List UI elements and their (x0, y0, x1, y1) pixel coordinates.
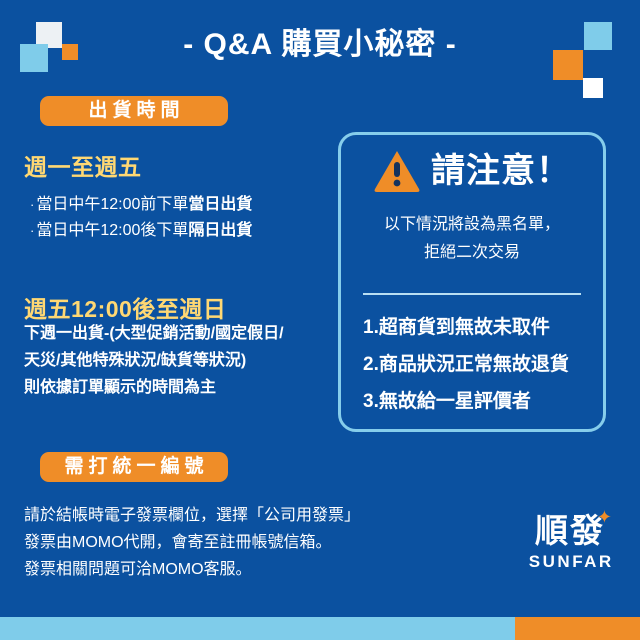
subtitle-line: 拒絕二次交易 (341, 239, 603, 267)
bullet-text-plain: 當日中午12:00後下單 (36, 222, 188, 239)
page-title: - Q&A 購買小秘密 - (0, 26, 640, 64)
warning-title: 請注意！ (431, 149, 571, 193)
divider (363, 293, 581, 295)
logo-chinese-text: 順發 (535, 511, 605, 550)
list-item: 1.超商貨到無故未取件 (363, 309, 589, 346)
paragraph-line: 則依據訂單顯示的時間為主 (24, 374, 334, 401)
heading-weekday: 週一至週五 (24, 148, 142, 182)
weekend-paragraph: 下週一出貨-(大型促銷活動/國定假日/ 天災/其他特殊狀況/缺貨等狀況) 則依據… (24, 320, 334, 401)
warning-box: 請注意！ 以下情況將設為黑名單， 拒絕二次交易 1.超商貨到無故未取件 2.商品… (338, 132, 606, 432)
footer-bar-orange (515, 617, 640, 640)
warning-subtitle: 以下情況將設為黑名單， 拒絕二次交易 (341, 211, 603, 267)
paragraph-line: 天災/其他特殊狀況/缺貨等狀況) (24, 347, 334, 374)
invoice-paragraph: 請於結帳時電子發票欄位，選擇「公司用發票」 發票由MOMO代開，會寄至註冊帳號信… (24, 502, 424, 583)
list-item: ·當日中午12:00後下單隔日出貨 (30, 218, 330, 244)
badge-shipping-time: 出貨時間 (40, 96, 228, 126)
logo-chinese-name: 順發 ✦ (535, 512, 605, 550)
list-item: ·當日中午12:00前下單當日出貨 (30, 192, 330, 218)
badge-tax-id: 需打統一編號 (40, 452, 228, 482)
shipping-bullet-list: ·當日中午12:00前下單當日出貨 ·當日中午12:00後下單隔日出貨 (30, 192, 330, 244)
list-item: 3.無故給一星評價者 (363, 383, 589, 420)
paragraph-line: 請於結帳時電子發票欄位，選擇「公司用發票」 (24, 502, 424, 529)
decor-white-square-right (583, 78, 603, 98)
subtitle-line: 以下情況將設為黑名單， (341, 211, 603, 239)
paragraph-line: 下週一出貨-(大型促銷活動/國定假日/ (24, 320, 334, 347)
star-icon: ✦ (597, 509, 614, 527)
warning-triangle-icon (373, 149, 421, 193)
list-item: 2.商品狀況正常無故退貨 (363, 346, 589, 383)
footer-bar-blue (0, 617, 515, 640)
bullet-text-bold: 當日出貨 (188, 196, 252, 213)
logo-english-name: SUNFAR (514, 551, 626, 573)
warning-item-list: 1.超商貨到無故未取件 2.商品狀況正常無故退貨 3.無故給一星評價者 (363, 309, 589, 420)
warning-header: 請注意！ (341, 149, 603, 193)
bullet-text-plain: 當日中午12:00前下單 (36, 196, 188, 213)
bullet-text-bold: 隔日出貨 (188, 222, 252, 239)
paragraph-line: 發票相關問題可洽MOMO客服。 (24, 556, 424, 583)
paragraph-line: 發票由MOMO代開，會寄至註冊帳號信箱。 (24, 529, 424, 556)
brand-logo: 順發 ✦ SUNFAR (514, 512, 626, 573)
heading-weekend: 週五12:00後至週日 (24, 290, 226, 324)
poster-canvas: - Q&A 購買小秘密 - 出貨時間 週一至週五 ·當日中午12:00前下單當日… (0, 0, 640, 640)
